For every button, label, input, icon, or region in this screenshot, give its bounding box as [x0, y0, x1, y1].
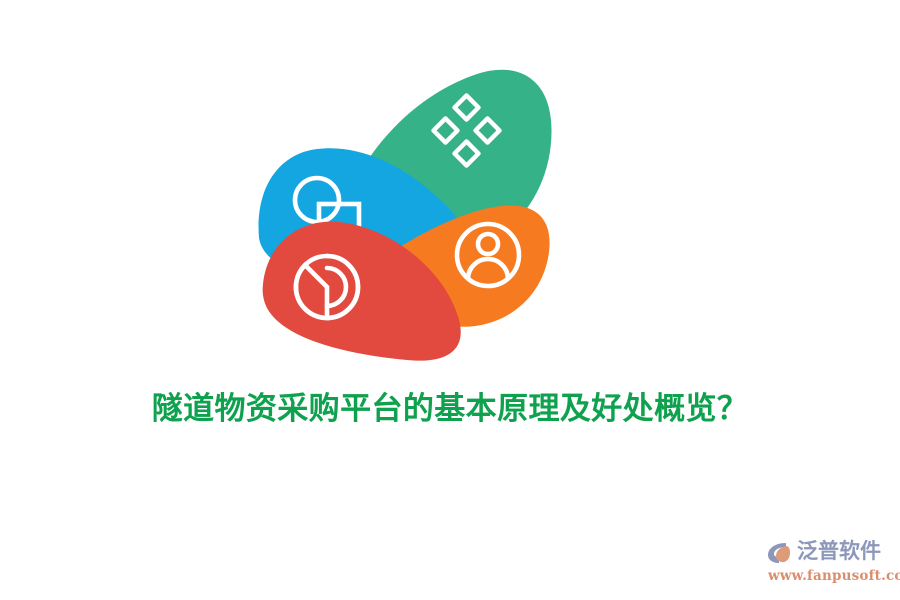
watermark-brand-text: 泛普软件	[797, 541, 881, 562]
fanpu-logo-icon	[766, 538, 794, 566]
watermark-url-text: www.fanpusoft.com	[768, 570, 900, 584]
page-title: 隧道物资采购平台的基本原理及好处概览？	[0, 390, 900, 429]
hero-logo	[255, 52, 555, 362]
page-root: 隧道物资采购平台的基本原理及好处概览？ 泛普软件 www.fanpusoft.c…	[0, 0, 900, 600]
watermark: 泛普软件 www.fanpusoft.com	[766, 532, 894, 588]
watermark-brand-row: 泛普软件	[766, 537, 881, 567]
